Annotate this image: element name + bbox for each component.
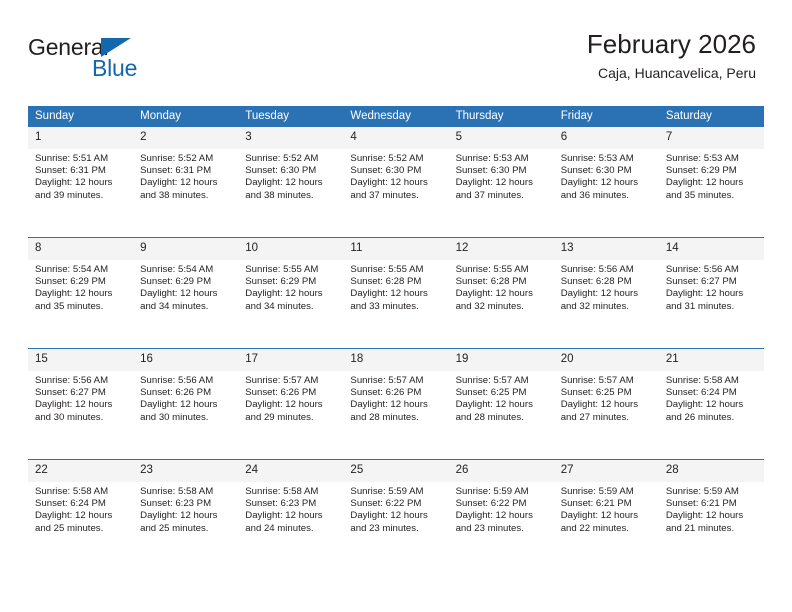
day-number: 26: [449, 460, 554, 482]
daylight-text: Daylight: 12 hours and 37 minutes.: [456, 177, 548, 201]
sunrise-text: Sunrise: 5:58 AM: [140, 486, 232, 498]
weekday-header-row: Sunday Monday Tuesday Wednesday Thursday…: [28, 106, 764, 127]
day-details: Sunrise: 5:56 AMSunset: 6:26 PMDaylight:…: [133, 371, 238, 424]
daylight-text: Daylight: 12 hours and 35 minutes.: [35, 288, 127, 312]
day-number: 3: [238, 127, 343, 149]
calendar-week-row: 22Sunrise: 5:58 AMSunset: 6:24 PMDayligh…: [28, 460, 764, 571]
calendar-body: 1Sunrise: 5:51 AMSunset: 6:31 PMDaylight…: [28, 127, 764, 570]
day-details: Sunrise: 5:53 AMSunset: 6:30 PMDaylight:…: [449, 149, 554, 202]
calendar-day-cell[interactable]: 7Sunrise: 5:53 AMSunset: 6:29 PMDaylight…: [659, 127, 764, 238]
sunset-text: Sunset: 6:24 PM: [666, 387, 758, 399]
daylight-text: Daylight: 12 hours and 23 minutes.: [456, 510, 548, 534]
calendar-day-cell[interactable]: 4Sunrise: 5:52 AMSunset: 6:30 PMDaylight…: [343, 127, 448, 238]
day-details: Sunrise: 5:58 AMSunset: 6:24 PMDaylight:…: [28, 482, 133, 535]
day-number: 28: [659, 460, 764, 482]
sunset-text: Sunset: 6:27 PM: [35, 387, 127, 399]
day-number: 23: [133, 460, 238, 482]
sunrise-text: Sunrise: 5:52 AM: [350, 153, 442, 165]
sunrise-text: Sunrise: 5:55 AM: [245, 264, 337, 276]
day-number: 17: [238, 349, 343, 371]
sunset-text: Sunset: 6:21 PM: [666, 498, 758, 510]
sunset-text: Sunset: 6:28 PM: [350, 276, 442, 288]
day-details: Sunrise: 5:53 AMSunset: 6:29 PMDaylight:…: [659, 149, 764, 202]
sunrise-text: Sunrise: 5:57 AM: [350, 375, 442, 387]
logo-text-blue: Blue: [92, 55, 137, 82]
calendar-day-cell[interactable]: 8Sunrise: 5:54 AMSunset: 6:29 PMDaylight…: [28, 238, 133, 349]
weekday-header-tuesday: Tuesday: [238, 106, 343, 127]
daylight-text: Daylight: 12 hours and 38 minutes.: [140, 177, 232, 201]
weekday-header-wednesday: Wednesday: [343, 106, 448, 127]
daylight-text: Daylight: 12 hours and 32 minutes.: [456, 288, 548, 312]
day-details: Sunrise: 5:58 AMSunset: 6:24 PMDaylight:…: [659, 371, 764, 424]
sunrise-text: Sunrise: 5:54 AM: [35, 264, 127, 276]
calendar-day-cell[interactable]: 11Sunrise: 5:55 AMSunset: 6:28 PMDayligh…: [343, 238, 448, 349]
calendar-day-cell[interactable]: 6Sunrise: 5:53 AMSunset: 6:30 PMDaylight…: [554, 127, 659, 238]
calendar-day-cell[interactable]: 5Sunrise: 5:53 AMSunset: 6:30 PMDaylight…: [449, 127, 554, 238]
calendar-day-cell[interactable]: 23Sunrise: 5:58 AMSunset: 6:23 PMDayligh…: [133, 460, 238, 571]
day-details: Sunrise: 5:57 AMSunset: 6:25 PMDaylight:…: [554, 371, 659, 424]
daylight-text: Daylight: 12 hours and 35 minutes.: [666, 177, 758, 201]
page-header: General Blue February 2026 Caja, Huancav…: [28, 28, 756, 94]
day-details: Sunrise: 5:59 AMSunset: 6:22 PMDaylight:…: [343, 482, 448, 535]
day-details: Sunrise: 5:55 AMSunset: 6:28 PMDaylight:…: [449, 260, 554, 313]
calendar-day-cell[interactable]: 14Sunrise: 5:56 AMSunset: 6:27 PMDayligh…: [659, 238, 764, 349]
calendar-day-cell[interactable]: 24Sunrise: 5:58 AMSunset: 6:23 PMDayligh…: [238, 460, 343, 571]
day-number: 8: [28, 238, 133, 260]
day-details: Sunrise: 5:56 AMSunset: 6:27 PMDaylight:…: [28, 371, 133, 424]
sunset-text: Sunset: 6:28 PM: [561, 276, 653, 288]
sunset-text: Sunset: 6:30 PM: [350, 165, 442, 177]
sunrise-text: Sunrise: 5:56 AM: [666, 264, 758, 276]
calendar-day-cell[interactable]: 22Sunrise: 5:58 AMSunset: 6:24 PMDayligh…: [28, 460, 133, 571]
sunset-text: Sunset: 6:29 PM: [35, 276, 127, 288]
day-number: 9: [133, 238, 238, 260]
day-number: 18: [343, 349, 448, 371]
daylight-text: Daylight: 12 hours and 27 minutes.: [561, 399, 653, 423]
day-number: 13: [554, 238, 659, 260]
daylight-text: Daylight: 12 hours and 23 minutes.: [350, 510, 442, 534]
day-details: Sunrise: 5:51 AMSunset: 6:31 PMDaylight:…: [28, 149, 133, 202]
calendar-day-cell[interactable]: 3Sunrise: 5:52 AMSunset: 6:30 PMDaylight…: [238, 127, 343, 238]
sunrise-text: Sunrise: 5:55 AM: [350, 264, 442, 276]
calendar-day-cell[interactable]: 12Sunrise: 5:55 AMSunset: 6:28 PMDayligh…: [449, 238, 554, 349]
sunset-text: Sunset: 6:29 PM: [245, 276, 337, 288]
calendar-week-row: 8Sunrise: 5:54 AMSunset: 6:29 PMDaylight…: [28, 238, 764, 349]
daylight-text: Daylight: 12 hours and 28 minutes.: [350, 399, 442, 423]
calendar-day-cell[interactable]: 25Sunrise: 5:59 AMSunset: 6:22 PMDayligh…: [343, 460, 448, 571]
calendar-day-cell[interactable]: 16Sunrise: 5:56 AMSunset: 6:26 PMDayligh…: [133, 349, 238, 460]
sunrise-text: Sunrise: 5:57 AM: [561, 375, 653, 387]
day-number: 21: [659, 349, 764, 371]
title-block: February 2026 Caja, Huancavelica, Peru: [587, 28, 756, 84]
sunrise-text: Sunrise: 5:56 AM: [561, 264, 653, 276]
day-details: Sunrise: 5:59 AMSunset: 6:22 PMDaylight:…: [449, 482, 554, 535]
sunset-text: Sunset: 6:31 PM: [140, 165, 232, 177]
sunset-text: Sunset: 6:22 PM: [456, 498, 548, 510]
calendar-week-row: 1Sunrise: 5:51 AMSunset: 6:31 PMDaylight…: [28, 127, 764, 238]
daylight-text: Daylight: 12 hours and 28 minutes.: [456, 399, 548, 423]
sunrise-text: Sunrise: 5:56 AM: [35, 375, 127, 387]
day-details: Sunrise: 5:54 AMSunset: 6:29 PMDaylight:…: [28, 260, 133, 313]
day-details: Sunrise: 5:56 AMSunset: 6:28 PMDaylight:…: [554, 260, 659, 313]
sunrise-text: Sunrise: 5:53 AM: [456, 153, 548, 165]
daylight-text: Daylight: 12 hours and 36 minutes.: [561, 177, 653, 201]
calendar-day-cell[interactable]: 27Sunrise: 5:59 AMSunset: 6:21 PMDayligh…: [554, 460, 659, 571]
sunset-text: Sunset: 6:30 PM: [456, 165, 548, 177]
day-details: Sunrise: 5:52 AMSunset: 6:30 PMDaylight:…: [238, 149, 343, 202]
day-details: Sunrise: 5:52 AMSunset: 6:30 PMDaylight:…: [343, 149, 448, 202]
sunset-text: Sunset: 6:21 PM: [561, 498, 653, 510]
page-title: February 2026: [587, 28, 756, 60]
day-details: Sunrise: 5:59 AMSunset: 6:21 PMDaylight:…: [659, 482, 764, 535]
sunset-text: Sunset: 6:23 PM: [140, 498, 232, 510]
day-details: Sunrise: 5:57 AMSunset: 6:26 PMDaylight:…: [238, 371, 343, 424]
calendar-page: General Blue February 2026 Caja, Huancav…: [0, 0, 792, 612]
day-number: 19: [449, 349, 554, 371]
day-number: 4: [343, 127, 448, 149]
sunset-text: Sunset: 6:26 PM: [140, 387, 232, 399]
calendar-day-cell[interactable]: 1Sunrise: 5:51 AMSunset: 6:31 PMDaylight…: [28, 127, 133, 238]
day-details: Sunrise: 5:55 AMSunset: 6:29 PMDaylight:…: [238, 260, 343, 313]
day-number: 20: [554, 349, 659, 371]
daylight-text: Daylight: 12 hours and 37 minutes.: [350, 177, 442, 201]
sunrise-text: Sunrise: 5:52 AM: [245, 153, 337, 165]
day-details: Sunrise: 5:52 AMSunset: 6:31 PMDaylight:…: [133, 149, 238, 202]
calendar-day-cell[interactable]: 26Sunrise: 5:59 AMSunset: 6:22 PMDayligh…: [449, 460, 554, 571]
day-number: 12: [449, 238, 554, 260]
day-details: Sunrise: 5:59 AMSunset: 6:21 PMDaylight:…: [554, 482, 659, 535]
sunrise-text: Sunrise: 5:59 AM: [561, 486, 653, 498]
sunrise-text: Sunrise: 5:52 AM: [140, 153, 232, 165]
sunrise-text: Sunrise: 5:51 AM: [35, 153, 127, 165]
weekday-header-monday: Monday: [133, 106, 238, 127]
calendar-day-cell[interactable]: 2Sunrise: 5:52 AMSunset: 6:31 PMDaylight…: [133, 127, 238, 238]
daylight-text: Daylight: 12 hours and 39 minutes.: [35, 177, 127, 201]
calendar-week-row: 15Sunrise: 5:56 AMSunset: 6:27 PMDayligh…: [28, 349, 764, 460]
weekday-header-thursday: Thursday: [449, 106, 554, 127]
day-number: 22: [28, 460, 133, 482]
calendar-day-cell[interactable]: 28Sunrise: 5:59 AMSunset: 6:21 PMDayligh…: [659, 460, 764, 571]
sunset-text: Sunset: 6:29 PM: [140, 276, 232, 288]
sunset-text: Sunset: 6:25 PM: [456, 387, 548, 399]
day-number: 14: [659, 238, 764, 260]
page-subtitle: Caja, Huancavelica, Peru: [587, 62, 756, 84]
sunset-text: Sunset: 6:27 PM: [666, 276, 758, 288]
sunset-text: Sunset: 6:24 PM: [35, 498, 127, 510]
sunset-text: Sunset: 6:28 PM: [456, 276, 548, 288]
weekday-header-friday: Friday: [554, 106, 659, 127]
day-number: 2: [133, 127, 238, 149]
day-number: 10: [238, 238, 343, 260]
calendar-day-cell[interactable]: 21Sunrise: 5:58 AMSunset: 6:24 PMDayligh…: [659, 349, 764, 460]
day-number: 25: [343, 460, 448, 482]
sunrise-text: Sunrise: 5:56 AM: [140, 375, 232, 387]
sunset-text: Sunset: 6:26 PM: [245, 387, 337, 399]
sunset-text: Sunset: 6:30 PM: [245, 165, 337, 177]
day-details: Sunrise: 5:54 AMSunset: 6:29 PMDaylight:…: [133, 260, 238, 313]
day-details: Sunrise: 5:58 AMSunset: 6:23 PMDaylight:…: [133, 482, 238, 535]
daylight-text: Daylight: 12 hours and 30 minutes.: [35, 399, 127, 423]
generalblue-logo[interactable]: General Blue: [28, 34, 208, 90]
weekday-header-sunday: Sunday: [28, 106, 133, 127]
day-number: 1: [28, 127, 133, 149]
calendar-day-cell[interactable]: 17Sunrise: 5:57 AMSunset: 6:26 PMDayligh…: [238, 349, 343, 460]
daylight-text: Daylight: 12 hours and 25 minutes.: [35, 510, 127, 534]
sunset-text: Sunset: 6:30 PM: [561, 165, 653, 177]
sunrise-text: Sunrise: 5:59 AM: [350, 486, 442, 498]
daylight-text: Daylight: 12 hours and 34 minutes.: [245, 288, 337, 312]
calendar-day-cell[interactable]: 15Sunrise: 5:56 AMSunset: 6:27 PMDayligh…: [28, 349, 133, 460]
daylight-text: Daylight: 12 hours and 22 minutes.: [561, 510, 653, 534]
calendar-day-cell[interactable]: 9Sunrise: 5:54 AMSunset: 6:29 PMDaylight…: [133, 238, 238, 349]
calendar-day-cell[interactable]: 18Sunrise: 5:57 AMSunset: 6:26 PMDayligh…: [343, 349, 448, 460]
daylight-text: Daylight: 12 hours and 24 minutes.: [245, 510, 337, 534]
daylight-text: Daylight: 12 hours and 29 minutes.: [245, 399, 337, 423]
day-number: 6: [554, 127, 659, 149]
weekday-header-saturday: Saturday: [659, 106, 764, 127]
calendar-day-cell[interactable]: 13Sunrise: 5:56 AMSunset: 6:28 PMDayligh…: [554, 238, 659, 349]
calendar-table: Sunday Monday Tuesday Wednesday Thursday…: [28, 106, 764, 570]
daylight-text: Daylight: 12 hours and 30 minutes.: [140, 399, 232, 423]
sunset-text: Sunset: 6:29 PM: [666, 165, 758, 177]
daylight-text: Daylight: 12 hours and 25 minutes.: [140, 510, 232, 534]
day-details: Sunrise: 5:57 AMSunset: 6:26 PMDaylight:…: [343, 371, 448, 424]
day-details: Sunrise: 5:58 AMSunset: 6:23 PMDaylight:…: [238, 482, 343, 535]
sunrise-text: Sunrise: 5:58 AM: [666, 375, 758, 387]
daylight-text: Daylight: 12 hours and 33 minutes.: [350, 288, 442, 312]
sunrise-text: Sunrise: 5:57 AM: [456, 375, 548, 387]
daylight-text: Daylight: 12 hours and 21 minutes.: [666, 510, 758, 534]
day-number: 5: [449, 127, 554, 149]
sunrise-text: Sunrise: 5:53 AM: [666, 153, 758, 165]
daylight-text: Daylight: 12 hours and 38 minutes.: [245, 177, 337, 201]
sunrise-text: Sunrise: 5:58 AM: [245, 486, 337, 498]
daylight-text: Daylight: 12 hours and 34 minutes.: [140, 288, 232, 312]
sunset-text: Sunset: 6:26 PM: [350, 387, 442, 399]
sunrise-text: Sunrise: 5:53 AM: [561, 153, 653, 165]
daylight-text: Daylight: 12 hours and 26 minutes.: [666, 399, 758, 423]
day-number: 7: [659, 127, 764, 149]
sunrise-text: Sunrise: 5:55 AM: [456, 264, 548, 276]
day-number: 16: [133, 349, 238, 371]
calendar-day-cell[interactable]: 19Sunrise: 5:57 AMSunset: 6:25 PMDayligh…: [449, 349, 554, 460]
sunset-text: Sunset: 6:22 PM: [350, 498, 442, 510]
day-number: 27: [554, 460, 659, 482]
day-number: 24: [238, 460, 343, 482]
daylight-text: Daylight: 12 hours and 32 minutes.: [561, 288, 653, 312]
day-number: 11: [343, 238, 448, 260]
day-details: Sunrise: 5:55 AMSunset: 6:28 PMDaylight:…: [343, 260, 448, 313]
day-details: Sunrise: 5:53 AMSunset: 6:30 PMDaylight:…: [554, 149, 659, 202]
sunrise-text: Sunrise: 5:58 AM: [35, 486, 127, 498]
sunrise-text: Sunrise: 5:59 AM: [666, 486, 758, 498]
sunrise-text: Sunrise: 5:59 AM: [456, 486, 548, 498]
sunrise-text: Sunrise: 5:54 AM: [140, 264, 232, 276]
day-details: Sunrise: 5:57 AMSunset: 6:25 PMDaylight:…: [449, 371, 554, 424]
sunset-text: Sunset: 6:23 PM: [245, 498, 337, 510]
day-number: 15: [28, 349, 133, 371]
calendar-day-cell[interactable]: 20Sunrise: 5:57 AMSunset: 6:25 PMDayligh…: [554, 349, 659, 460]
calendar-day-cell[interactable]: 10Sunrise: 5:55 AMSunset: 6:29 PMDayligh…: [238, 238, 343, 349]
sunset-text: Sunset: 6:25 PM: [561, 387, 653, 399]
daylight-text: Daylight: 12 hours and 31 minutes.: [666, 288, 758, 312]
day-details: Sunrise: 5:56 AMSunset: 6:27 PMDaylight:…: [659, 260, 764, 313]
sunrise-text: Sunrise: 5:57 AM: [245, 375, 337, 387]
sunset-text: Sunset: 6:31 PM: [35, 165, 127, 177]
